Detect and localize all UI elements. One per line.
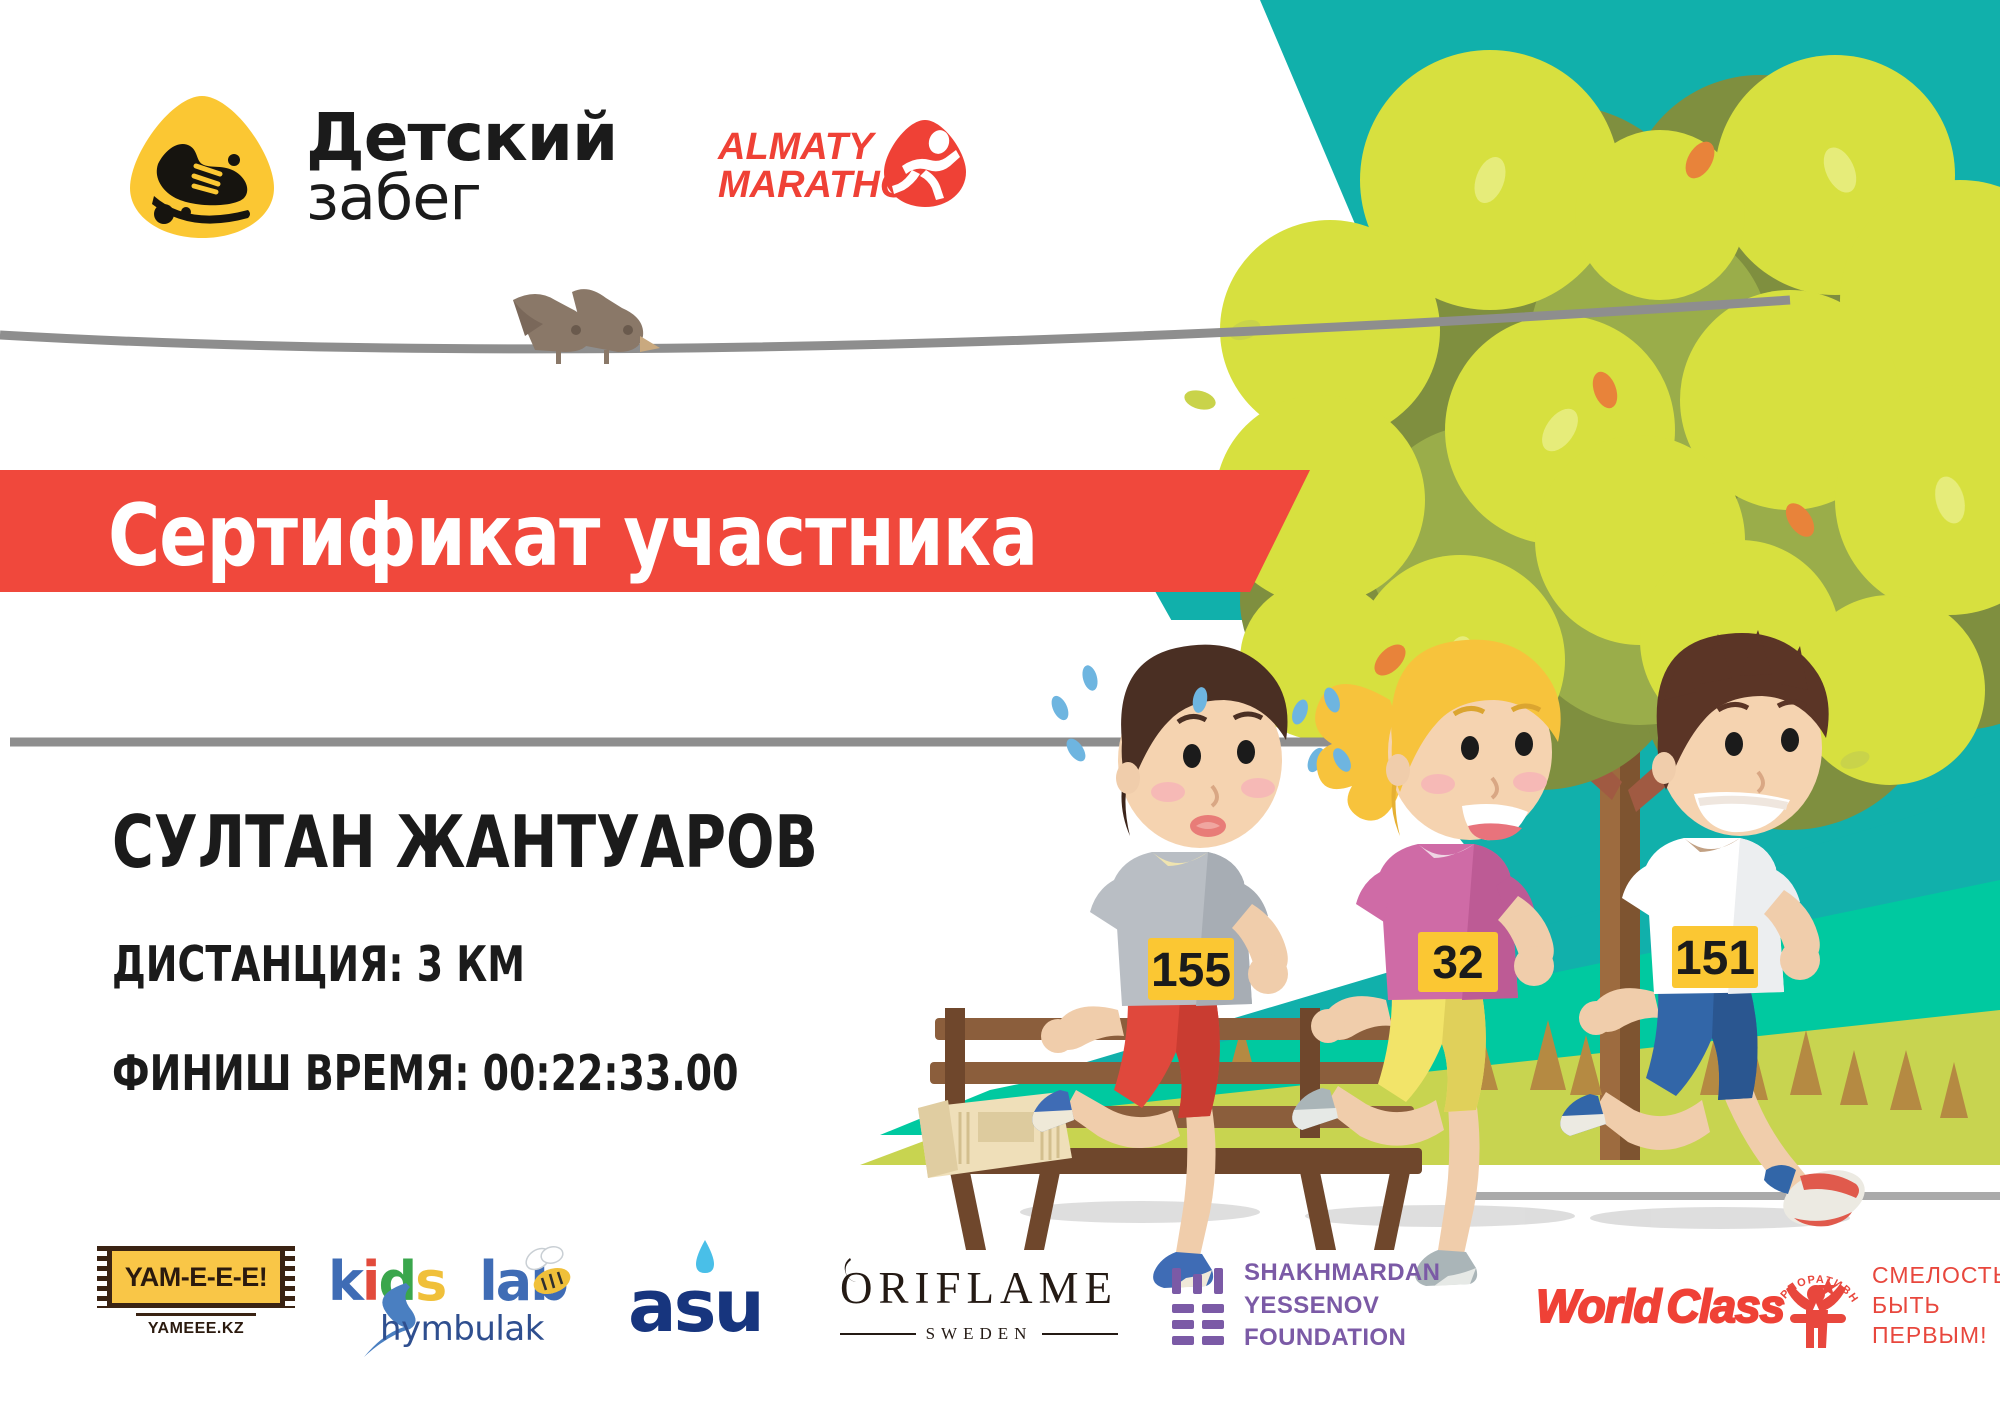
participant-distance: ДИСТАНЦИЯ: 3 КМ [112,936,783,993]
svg-text:151: 151 [1675,932,1755,985]
yameee-rule [136,1313,256,1316]
asu-wordmark: asu [628,1270,762,1342]
kidslab-subtitle: hymbulak [380,1309,544,1349]
shoe-icon [1560,1094,1606,1136]
oriflame-swirl-icon [838,1254,874,1294]
runner-155: 155 [1032,645,1328,1288]
svg-text:32: 32 [1432,936,1483,988]
oriflame-rule-right [1042,1333,1118,1335]
smelost-figure-icon: КОРПОРАТИВНЫЙ ФОНД [1770,1256,1862,1356]
worldclass-wordmark: WorldClass [1530,1275,1790,1337]
participant-name: СУЛТАН ЖАНТУАРОВ [112,800,798,884]
sponsor-smelost: КОРПОРАТИВНЫЙ ФОНД СМЕЛОСТЬ БЫТЬ ПЕРВЫМ! [1770,1246,2000,1366]
sponsor-oriflame: ORIFLAME SWEDEN [840,1246,1120,1366]
yessenov-mark-icon [1170,1266,1226,1346]
sponsor-kidslab: kidslab hymbulak [328,1246,578,1366]
runner-151: 151 [1560,630,1872,1236]
yameee-name: YAM-E-E-E! [112,1251,280,1303]
worldclass-word2: Class [1666,1280,1784,1332]
water-drop-icon [694,1240,716,1274]
yameee-wrapper-icon: YAM-E-E-E! [107,1246,285,1308]
runner-32: 32 [1292,640,1560,1286]
yessenov-line1: SHAKHMARDAN YESSENOV [1244,1257,1500,1322]
yessenov-wordmark: SHAKHMARDAN YESSENOV FOUNDATION [1244,1257,1500,1354]
runners-illustration: 155 [0,0,2000,1413]
sponsor-yessenov: SHAKHMARDAN YESSENOV FOUNDATION [1170,1246,1500,1366]
participant-finish-time: ФИНИШ ВРЕМЯ: 00:22:33.00 [112,1045,783,1102]
sponsor-yameee: YAM-E-E-E! YAMEEE.KZ [96,1246,296,1366]
worldclass-word1: World [1536,1280,1660,1332]
bee-icon [518,1245,574,1301]
smelost-line3: ПЕРВЫМ! [1872,1321,2000,1351]
yessenov-line2: FOUNDATION [1244,1322,1500,1354]
certificate-canvas: Детский забег ALMATY MARATHON Сертификат… [0,0,2000,1413]
sponsor-worldclass: WorldClass [1530,1246,1760,1366]
oriflame-wordmark: ORIFLAME [840,1262,1118,1314]
smelost-wordmark: СМЕЛОСТЬ БЫТЬ ПЕРВЫМ! [1872,1261,2000,1351]
ground-shadows [1020,1201,1850,1229]
sponsor-asu: asu [628,1246,798,1366]
smelost-line1: СМЕЛОСТЬ [1872,1261,2000,1291]
participant-details: СУЛТАН ЖАНТУАРОВ ДИСТАНЦИЯ: 3 КМ ФИНИШ В… [112,800,892,1102]
oriflame-subtitle: SWEDEN [926,1324,1033,1344]
svg-text:155: 155 [1151,944,1231,997]
sponsor-row: YAM-E-E-E! YAMEEE.KZ kidslab hymbulak [0,1246,2000,1376]
oriflame-rule-left [840,1333,916,1335]
smelost-line2: БЫТЬ [1872,1291,2000,1321]
yameee-url: YAMEEE.KZ [148,1320,244,1338]
